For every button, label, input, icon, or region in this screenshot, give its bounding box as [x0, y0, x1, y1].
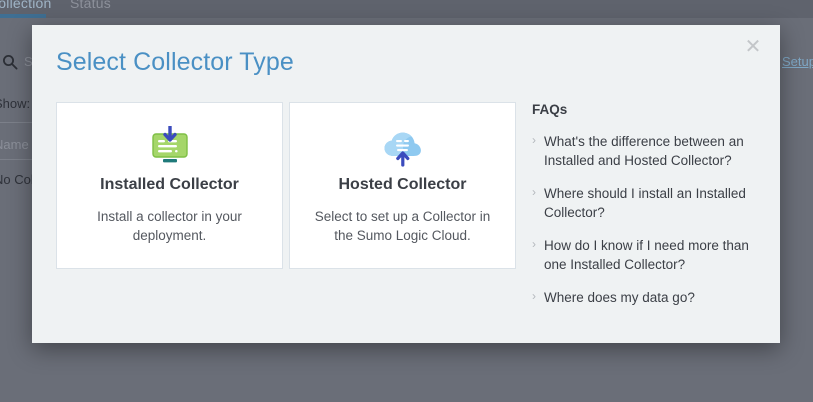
faq-item-label: How do I know if I need more than one In… — [544, 238, 749, 272]
search-icon — [2, 54, 18, 70]
collector-card-description: Install a collector in your deployment. — [75, 207, 264, 245]
faq-item-label: Where should I install an Installed Coll… — [544, 186, 746, 220]
chevron-right-icon: › — [532, 183, 536, 202]
monitor-download-icon — [57, 124, 282, 170]
collector-card-title: Installed Collector — [57, 176, 282, 194]
close-icon[interactable]: ✕ — [740, 34, 766, 60]
collector-card-description: Select to set up a Collector in the Sumo… — [308, 207, 497, 245]
faq-item[interactable]: › How do I know if I need more than one … — [532, 236, 762, 274]
chevron-right-icon: › — [532, 235, 536, 254]
faq-item-label: What's the difference between an Install… — [544, 134, 744, 168]
collector-card-title: Hosted Collector — [290, 176, 515, 194]
collector-card-hosted[interactable]: Hosted Collector Select to set up a Coll… — [289, 102, 516, 269]
faq-heading: FAQs — [532, 102, 762, 117]
background-tab-collection[interactable]: Collection — [0, 0, 51, 11]
table-column-header-name: Name — [0, 137, 29, 152]
chevron-right-icon: › — [532, 287, 536, 306]
collector-card-installed[interactable]: Installed Collector Install a collector … — [56, 102, 283, 269]
background-tab-bar: Collection Status — [0, 0, 813, 18]
faq-section: FAQs › What's the difference between an … — [532, 102, 762, 321]
faq-item[interactable]: › Where does my data go? — [532, 288, 762, 307]
faq-item[interactable]: › What's the difference between an Insta… — [532, 132, 762, 170]
chevron-right-icon: › — [532, 131, 536, 150]
dialog-title: Select Collector Type — [56, 48, 294, 77]
background-tab-status[interactable]: Status — [70, 0, 111, 11]
show-filter-label: Show: — [0, 96, 30, 111]
select-collector-type-dialog: ✕ Select Collector Type Installed Collec… — [32, 25, 780, 343]
cloud-upload-icon — [290, 124, 515, 170]
faq-item-label: Where does my data go? — [544, 290, 695, 305]
setup-wizard-link[interactable]: Setup Wizard — [782, 54, 813, 69]
faq-item[interactable]: › Where should I install an Installed Co… — [532, 184, 762, 222]
